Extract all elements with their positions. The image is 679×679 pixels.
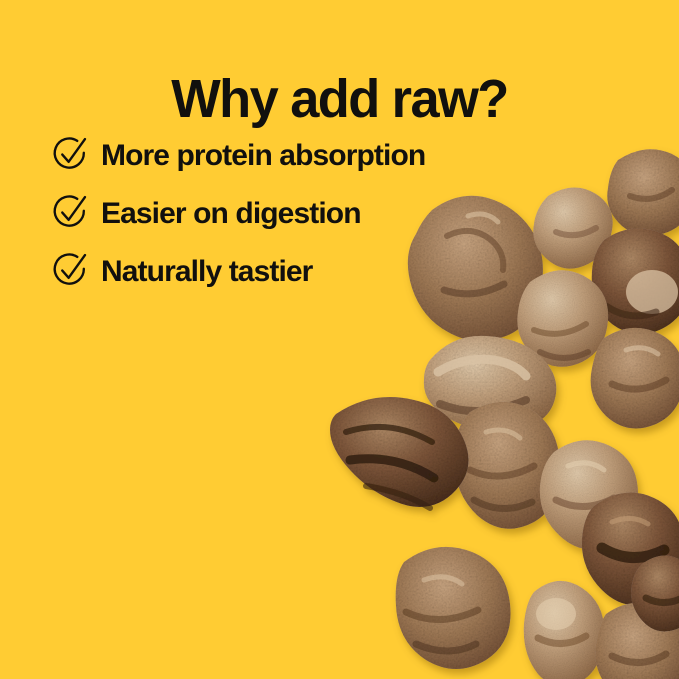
circle-check-icon [50, 193, 101, 233]
circle-check-icon [50, 251, 101, 291]
promo-card: Why add raw? More protein absorption [0, 0, 679, 679]
benefits-list: More protein absorption Easier on digest… [50, 126, 550, 300]
text-block: Why add raw? More protein absorption [0, 0, 560, 320]
chunk-bottom-center [524, 581, 604, 679]
benefit-label: More protein absorption [101, 141, 425, 171]
circle-check-icon [50, 135, 101, 175]
chunk-bottom-left [396, 547, 511, 669]
chunk-top-right-a [607, 149, 679, 236]
benefit-label: Easier on digestion [101, 199, 361, 229]
benefit-item-digestion: Easier on digestion [50, 184, 550, 242]
page-title: Why add raw? [10, 72, 669, 126]
benefit-label: Naturally tastier [101, 257, 312, 287]
benefit-item-protein: More protein absorption [50, 126, 550, 184]
benefit-item-tastier: Naturally tastier [50, 242, 550, 300]
chunk-mid-right [591, 328, 679, 429]
